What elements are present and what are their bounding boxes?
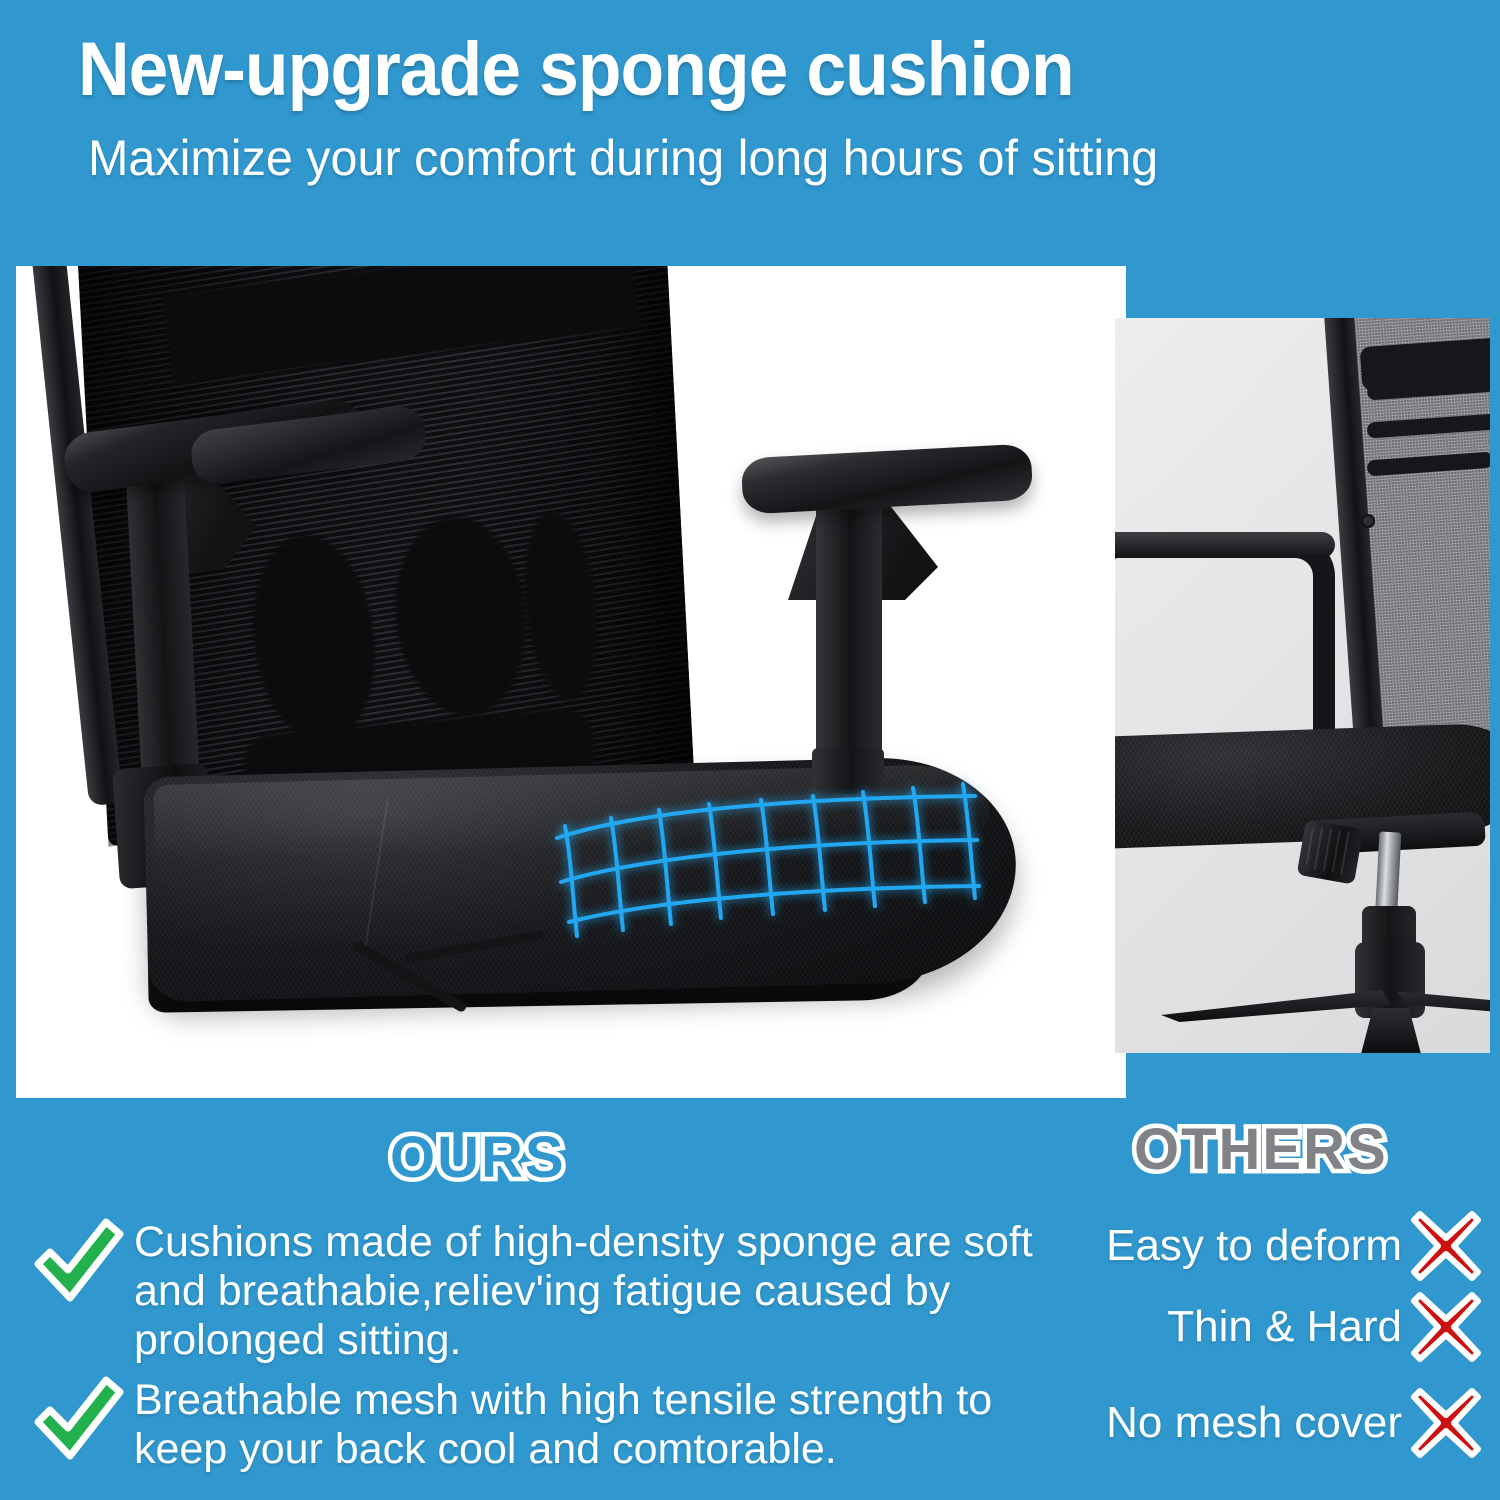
ours-column-title: OURS [390, 1124, 566, 1191]
green-check-icon [30, 1212, 126, 1308]
red-cross-icon [1408, 1208, 1484, 1284]
others-row-3-text: No mesh cover [1106, 1397, 1402, 1449]
others-row-2-text: Thin & Hard [1167, 1301, 1402, 1353]
ours-bullet-2-text: Breathable mesh with high tensile streng… [134, 1376, 1064, 1474]
competitor-back-screw [1361, 514, 1375, 528]
red-cross-icon [1408, 1385, 1484, 1461]
page-subtitle: Maximize your comfort during long hours … [88, 128, 1158, 188]
competitor-armrest-top [1115, 532, 1335, 558]
main-product-photo [16, 266, 1126, 1098]
ours-bullet-1-text: Cushions made of high-density sponge are… [134, 1218, 1064, 1365]
right-armrest-post [816, 494, 882, 759]
competitor-tension-knob [1297, 819, 1364, 884]
green-check-icon [30, 1370, 126, 1466]
header-banner: New-upgrade sponge cushion Maximize your… [0, 0, 1500, 230]
others-row-2: Thin & Hard [1167, 1289, 1484, 1365]
others-column-title: OTHERS [1134, 1116, 1388, 1183]
competitor-base-leg [1161, 990, 1391, 1022]
right-armrest-collar [812, 748, 884, 794]
others-row-1: Easy to deform [1106, 1208, 1484, 1284]
competitor-product-photo [1115, 318, 1490, 1053]
others-row-3: No mesh cover [1106, 1385, 1484, 1461]
page-title: New-upgrade sponge cushion [78, 28, 1074, 112]
competitor-loop-armrest [1115, 536, 1335, 736]
red-cross-icon [1408, 1289, 1484, 1365]
others-row-1-text: Easy to deform [1106, 1220, 1402, 1272]
right-armrest-pad [741, 443, 1034, 514]
seat-cushion [143, 755, 1019, 1003]
competitor-knob-ribs [1305, 826, 1357, 876]
